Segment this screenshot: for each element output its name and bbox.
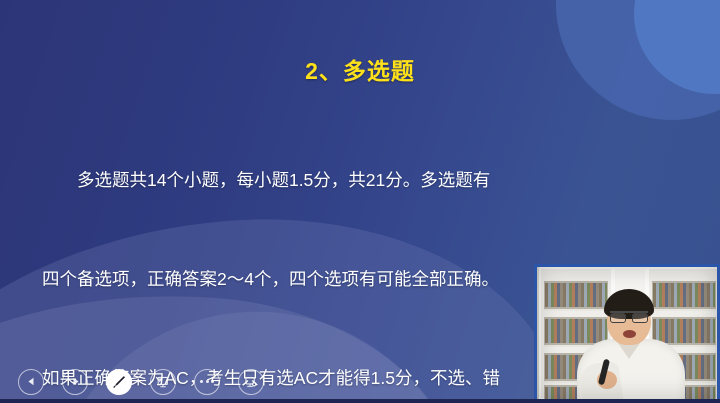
previous-slide-button[interactable] (18, 369, 44, 395)
bottom-edge-strip (0, 399, 720, 403)
presenter-glasses (610, 311, 648, 322)
laser-pointer-icon (156, 375, 170, 389)
slide-title: 2、多选题 (0, 52, 720, 86)
video-frame (537, 267, 717, 400)
laser-pointer-button[interactable] (150, 369, 176, 395)
pen-icon (112, 374, 127, 389)
body-line-1: 多选题共14个小题，每小题1.5分，共21分。多选题有 (42, 164, 662, 197)
triangle-right-icon (70, 376, 81, 387)
screen-share-button[interactable] (238, 369, 264, 395)
presenter-video-feed[interactable] (534, 264, 720, 403)
presenter-mouth (623, 330, 636, 338)
presentation-toolbar (0, 360, 534, 403)
ellipsis-icon (200, 380, 214, 383)
more-options-button[interactable] (194, 369, 220, 395)
pen-tool-button[interactable] (106, 369, 132, 395)
screen-share-icon (244, 375, 258, 389)
next-slide-button[interactable] (62, 369, 88, 395)
triangle-left-icon (26, 376, 37, 387)
slide-viewer: 2、多选题 多选题共14个小题，每小题1.5分，共21分。多选题有 四个备选项，… (0, 0, 720, 403)
